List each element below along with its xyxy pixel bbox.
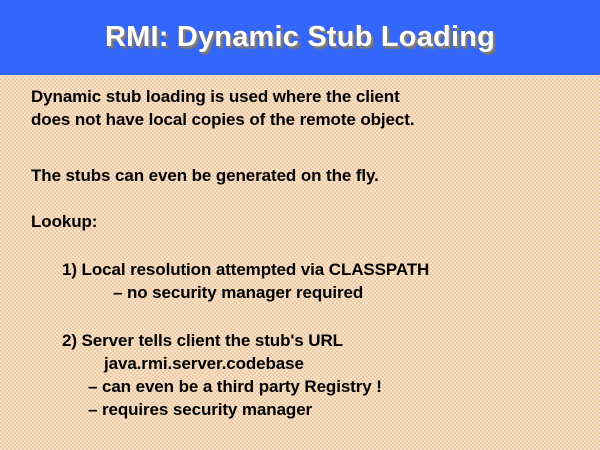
body-line-dash: – no security manager required bbox=[113, 283, 363, 303]
body-line-dash: – can even be a third party Registry ! bbox=[88, 377, 382, 397]
body-line: Dynamic stub loading is used where the c… bbox=[31, 87, 400, 107]
body-line: The stubs can even be generated on the f… bbox=[31, 166, 379, 186]
slide-body: Dynamic stub loading is used where the c… bbox=[0, 75, 600, 450]
body-line: does not have local copies of the remote… bbox=[31, 110, 414, 130]
body-line-numbered-1: 1) Local resolution attempted via CLASSP… bbox=[62, 260, 429, 280]
page-title: RMI: Dynamic Stub Loading bbox=[0, 0, 600, 75]
body-line-dash: – requires security manager bbox=[88, 400, 312, 420]
body-line: Lookup: bbox=[31, 212, 97, 232]
presentation-slide: RMI: Dynamic Stub Loading Dynamic stub l… bbox=[0, 0, 600, 450]
body-line-codebase: java.rmi.server.codebase bbox=[104, 354, 304, 374]
body-line-numbered-2: 2) Server tells client the stub's URL bbox=[62, 331, 343, 351]
